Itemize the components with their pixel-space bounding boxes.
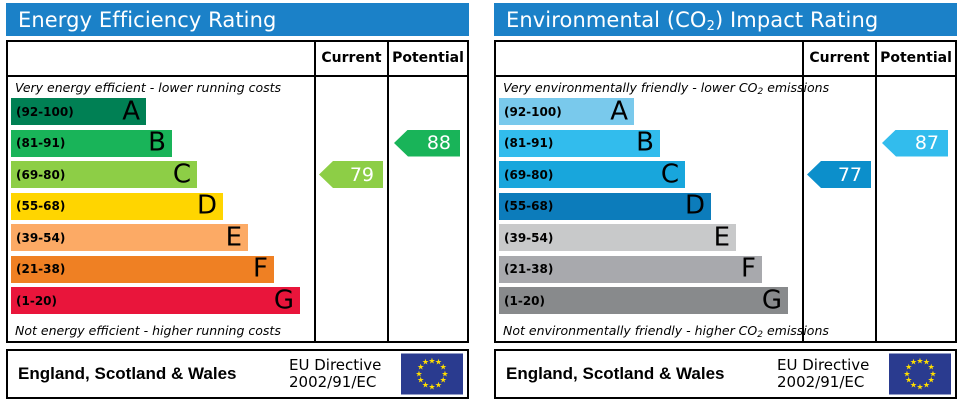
current-rating-arrow: 79	[319, 161, 383, 188]
band-letter-label: F	[253, 255, 268, 281]
current-rating-value: 77	[838, 164, 862, 186]
column-header-potential: Potential	[389, 42, 467, 75]
band-letter-label: F	[741, 255, 756, 281]
footer-directive-label: EU Directive 2002/91/EC	[777, 357, 869, 391]
band-list: (92-100)A(81-91)B(69-80)C(55-68)D(39-54)…	[496, 42, 802, 341]
band-row-d: (55-68)D	[499, 193, 711, 220]
band-range-label: (81-91)	[504, 136, 553, 150]
column-divider-potential	[387, 42, 389, 341]
band-row-f: (21-38)F	[11, 256, 274, 283]
band-row-g: (1-20)G	[499, 287, 788, 314]
potential-rating-arrow: 87	[882, 130, 948, 157]
band-row-d: (55-68)D	[11, 193, 223, 220]
footer-region-label: England, Scotland & Wales	[18, 364, 237, 384]
band-range-label: (69-80)	[16, 168, 65, 182]
band-row-c: (69-80)C	[499, 161, 685, 188]
epc-charts-page: Energy Efficiency Rating Current Potenti…	[0, 0, 957, 404]
potential-rating-value: 88	[427, 132, 451, 154]
column-header-current: Current	[804, 42, 875, 75]
band-letter-label: C	[661, 161, 679, 187]
band-row-b: (81-91)B	[11, 130, 172, 157]
potential-rating-arrow: 88	[394, 130, 460, 157]
footer-directive-line2: 2002/91/EC	[777, 373, 864, 391]
band-range-label: (92-100)	[16, 105, 74, 119]
band-list: (92-100)A(81-91)B(69-80)C(55-68)D(39-54)…	[8, 42, 314, 341]
band-letter-label: E	[226, 224, 242, 250]
current-rating-arrow: 77	[807, 161, 871, 188]
column-divider-potential	[875, 42, 877, 341]
column-divider-current	[314, 42, 316, 341]
footer-directive-label: EU Directive 2002/91/EC	[289, 357, 381, 391]
footer-directive-line1: EU Directive	[289, 356, 381, 374]
band-range-label: (92-100)	[504, 105, 562, 119]
eu-flag-icon: ★★★★★★★★★★★★	[889, 354, 951, 395]
footer-directive-line1: EU Directive	[777, 356, 869, 374]
eu-flag-icon: ★★★★★★★★★★★★	[401, 354, 463, 395]
band-row-b: (81-91)B	[499, 130, 660, 157]
current-rating-value: 79	[350, 164, 374, 186]
band-range-label: (21-38)	[16, 262, 65, 276]
band-range-label: (55-68)	[16, 199, 65, 213]
energy-efficiency-chart-box: Current Potential Very energy efficient …	[6, 40, 469, 343]
band-range-label: (1-20)	[504, 294, 545, 308]
co2-impact-chart: Environmental (CO2) Impact Rating Curren…	[488, 0, 957, 404]
band-range-label: (55-68)	[504, 199, 553, 213]
energy-efficiency-footer: England, Scotland & Wales EU Directive 2…	[6, 349, 469, 399]
band-row-g: (1-20)G	[11, 287, 300, 314]
footer-directive-line2: 2002/91/EC	[289, 373, 376, 391]
potential-rating-value: 87	[915, 132, 939, 154]
page-title: Energy Efficiency Rating	[18, 8, 276, 32]
band-letter-label: B	[148, 129, 166, 155]
eu-flag-star: ★	[910, 359, 918, 367]
band-letter-label: B	[636, 129, 654, 155]
band-row-c: (69-80)C	[11, 161, 197, 188]
band-letter-label: A	[122, 98, 140, 124]
band-row-f: (21-38)F	[499, 256, 762, 283]
band-letter-label: D	[685, 192, 705, 218]
band-letter-label: D	[197, 192, 217, 218]
page-title: Environmental (CO2) Impact Rating	[506, 8, 878, 32]
band-letter-label: E	[714, 224, 730, 250]
band-row-a: (92-100)A	[499, 98, 634, 125]
footer-region-label: England, Scotland & Wales	[506, 364, 725, 384]
co2-impact-title-bar: Environmental (CO2) Impact Rating	[494, 3, 957, 36]
band-range-label: (39-54)	[504, 231, 553, 245]
energy-efficiency-title-bar: Energy Efficiency Rating	[6, 3, 469, 36]
band-range-label: (81-91)	[16, 136, 65, 150]
column-header-potential: Potential	[877, 42, 955, 75]
energy-efficiency-chart: Energy Efficiency Rating Current Potenti…	[0, 0, 470, 404]
band-row-e: (39-54)E	[11, 224, 248, 251]
band-letter-label: G	[762, 287, 782, 313]
band-range-label: (39-54)	[16, 231, 65, 245]
eu-flag-star: ★	[422, 359, 430, 367]
band-range-label: (69-80)	[504, 168, 553, 182]
band-range-label: (21-38)	[504, 262, 553, 276]
band-letter-label: A	[610, 98, 628, 124]
band-letter-label: G	[274, 287, 294, 313]
band-row-a: (92-100)A	[11, 98, 146, 125]
band-row-e: (39-54)E	[499, 224, 736, 251]
band-range-label: (1-20)	[16, 294, 57, 308]
co2-impact-chart-box: Current Potential Very environmentally f…	[494, 40, 957, 343]
column-header-current: Current	[316, 42, 387, 75]
band-letter-label: C	[173, 161, 191, 187]
co2-impact-footer: England, Scotland & Wales EU Directive 2…	[494, 349, 957, 399]
